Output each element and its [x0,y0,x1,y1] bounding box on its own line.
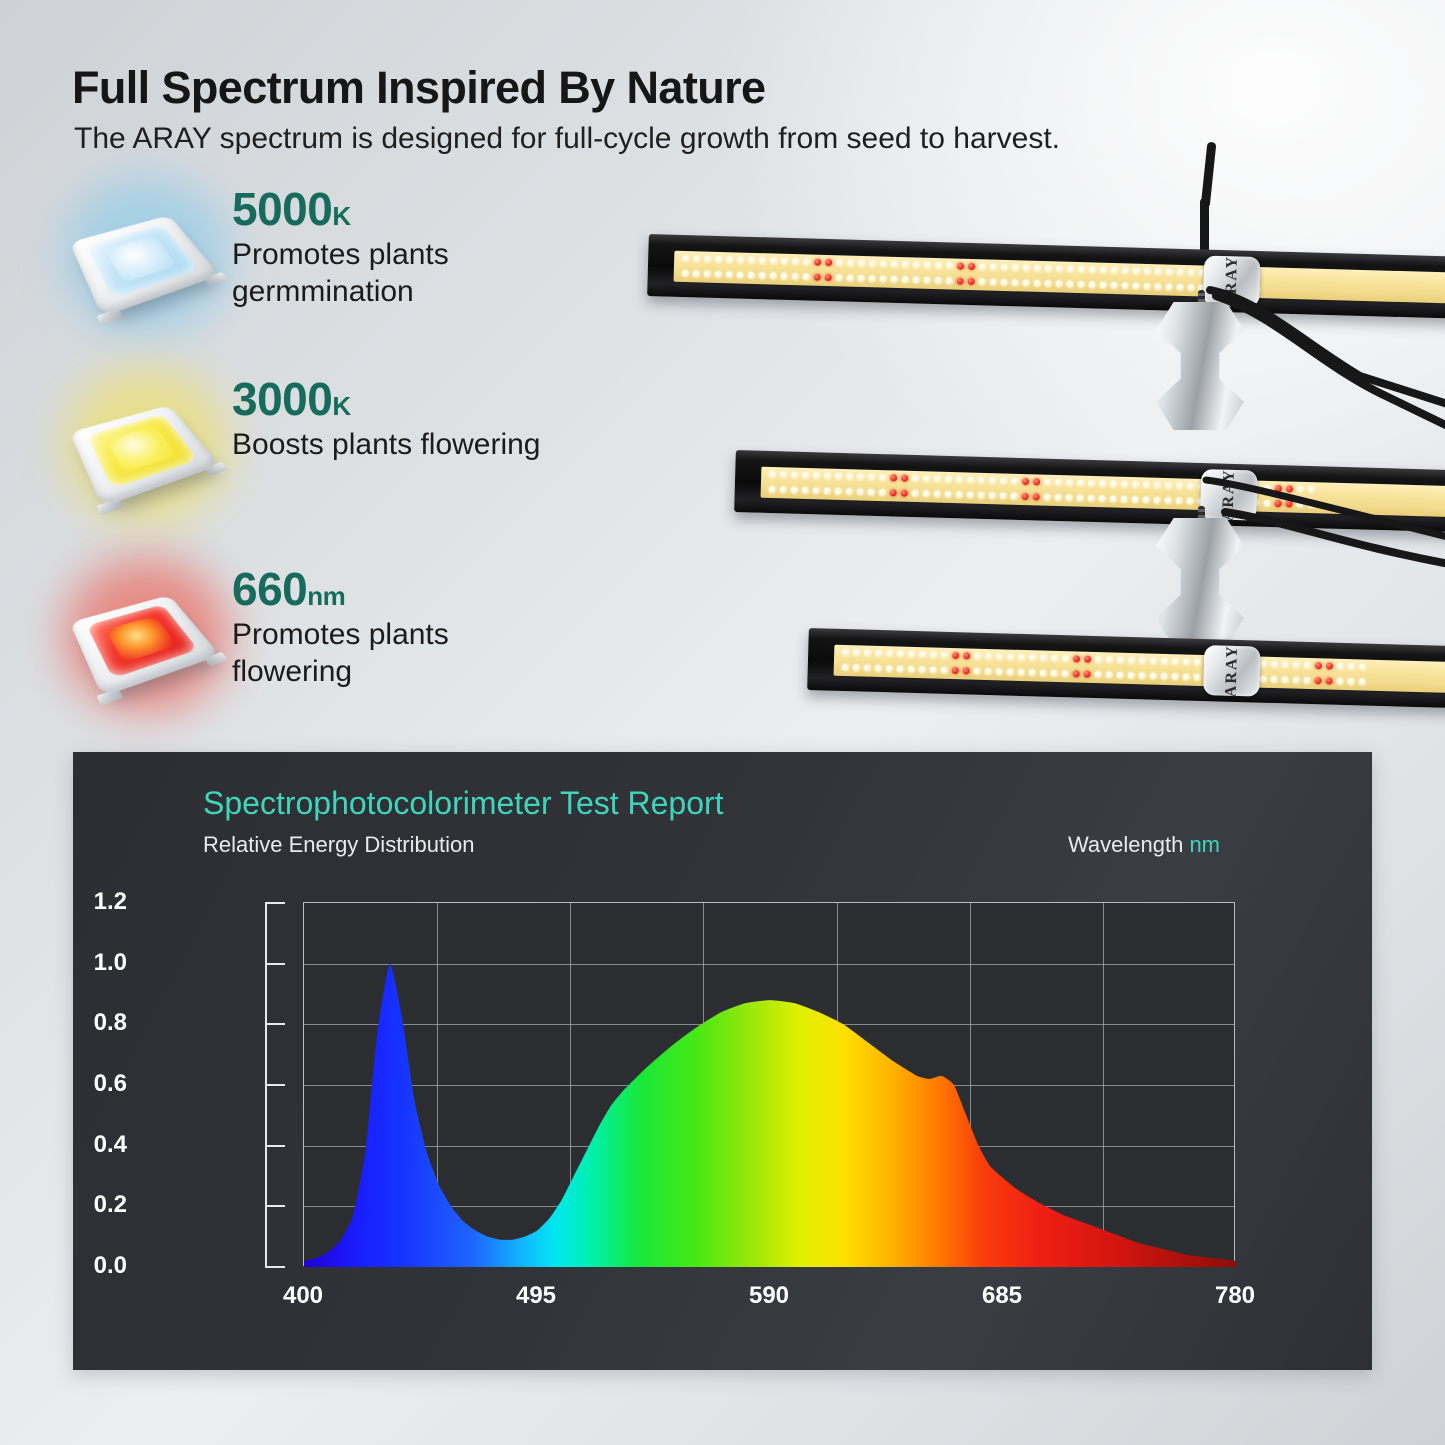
feature-item-5000k: 5000K Promotes plants germmination [70,186,590,376]
aray-logo-medallion-2: ARAY [1200,469,1257,521]
feature-value-unit: K [332,391,350,421]
wavelength-unit: nm [1189,832,1220,857]
y-axis-tick [265,1266,285,1268]
led-chip-3000k-icon [70,382,220,522]
y-axis-tick-label: 0.2 [57,1191,127,1219]
y-axis-tick [265,902,285,904]
feature-value-number: 660 [232,563,307,615]
brand-label: ARAY [1219,468,1238,521]
aray-logo-medallion-3: ARAY [1203,645,1260,697]
y-axis-tick [265,1205,285,1207]
spectrum-chart-panel: Spectrophotocolorimeter Test Report Rela… [73,752,1372,1370]
chart-title: Spectrophotocolorimeter Test Report [203,785,724,822]
feature-value: 5000K [232,186,562,233]
mounting-bracket-1 [1156,302,1244,430]
led-bar-3: ARAY [807,628,1445,711]
aray-logo-medallion-1: ARAY [1203,256,1260,308]
x-axis-tick-label: 590 [749,1282,789,1310]
y-axis-tick-label: 0.0 [57,1252,127,1280]
feature-item-3000k: 3000K Boosts plants flowering [70,376,590,566]
spectrum-curve [304,903,1236,1267]
chart-y-axis-label: Relative Energy Distribution [203,832,474,858]
wavelength-text: Wavelength [1068,832,1183,857]
feature-value-number: 5000 [232,183,332,235]
y-axis-tick-label: 0.8 [57,1009,127,1037]
led-chip-5000k-icon [70,192,220,332]
feature-value-unit: nm [307,581,345,611]
feature-value: 3000K [232,376,541,423]
feature-description: Promotes plants flowering [232,617,562,690]
y-axis-tick-label: 0.4 [57,1131,127,1159]
feature-description: Boosts plants flowering [232,427,541,464]
y-axis-tick [265,1023,285,1025]
brand-label: ARAY [1222,255,1241,308]
y-axis-tick-label: 1.2 [57,888,127,916]
y-axis-tick [265,1084,285,1086]
x-axis-tick-label: 400 [283,1282,323,1310]
chart-plot-area [303,902,1235,1266]
brand-label: ARAY [1222,644,1241,697]
x-axis-tick-label: 780 [1215,1282,1255,1310]
led-bar-2: ARAY [734,450,1445,534]
page-title: Full Spectrum Inspired By Nature [72,62,765,114]
x-axis-tick-label: 495 [516,1282,556,1310]
x-axis-tick-label: 685 [982,1282,1022,1310]
y-axis-tick-label: 0.6 [57,1070,127,1098]
product-infographic-page: Full Spectrum Inspired By Nature The ARA… [0,0,1445,1445]
feature-item-660nm: 660nm Promotes plants flowering [70,566,590,756]
y-axis-tick [265,1145,285,1147]
y-axis-tick-label: 1.0 [57,949,127,977]
feature-value-unit: K [332,201,350,231]
feature-list: 5000K Promotes plants germmination 3000K [70,186,590,756]
mounting-bracket-2 [1156,518,1244,646]
power-cable-icon [1200,198,1209,254]
led-bar-1: ARAY [647,234,1445,319]
feature-description: Promotes plants germmination [232,237,562,310]
y-axis-tick [265,963,285,965]
led-chip-660nm-icon [70,572,220,712]
feature-value: 660nm [232,566,562,613]
chart-x-axis-label: Wavelength nm [1068,832,1220,858]
feature-value-number: 3000 [232,373,332,425]
led-grow-light-fixture-image: ARAY ARAY [600,140,1445,720]
